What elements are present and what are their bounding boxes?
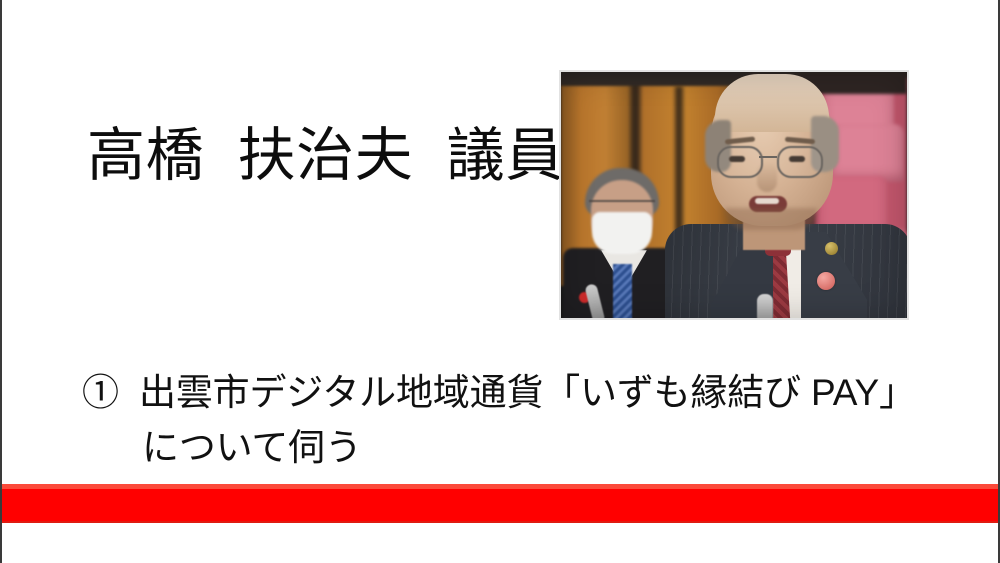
attendee-tie	[613, 264, 632, 318]
attendee-face-mask	[592, 212, 652, 254]
question-list: ① 出雲市デジタル地域通貨「いずも縁結び PAY」 について伺う	[82, 366, 982, 476]
accent-bar-edge	[2, 521, 998, 523]
page-title: 高橋 扶治夫 議員	[87, 126, 564, 187]
photo-microphone-secondary	[757, 294, 773, 318]
subject-nose	[757, 162, 777, 192]
subject-glasses-right-lens	[777, 146, 823, 178]
subject-chin-shadow	[725, 208, 817, 230]
photo-main-subject	[665, 76, 907, 318]
accent-bar	[2, 484, 998, 523]
subject-glasses-bridge	[759, 156, 777, 158]
accent-bar-highlight	[2, 484, 998, 489]
question-item-1-line-2: について伺う	[82, 421, 982, 476]
councilor-photo	[559, 70, 909, 320]
subject-gold-pin	[825, 242, 838, 255]
question-item-1-line-1: ① 出雲市デジタル地域通貨「いずも縁結び PAY」	[82, 366, 982, 421]
subject-lapel-badge	[817, 272, 835, 290]
presentation-slide: 高橋 扶治夫 議員	[0, 0, 1000, 563]
subject-teeth	[755, 198, 779, 204]
photo-content	[561, 72, 907, 318]
